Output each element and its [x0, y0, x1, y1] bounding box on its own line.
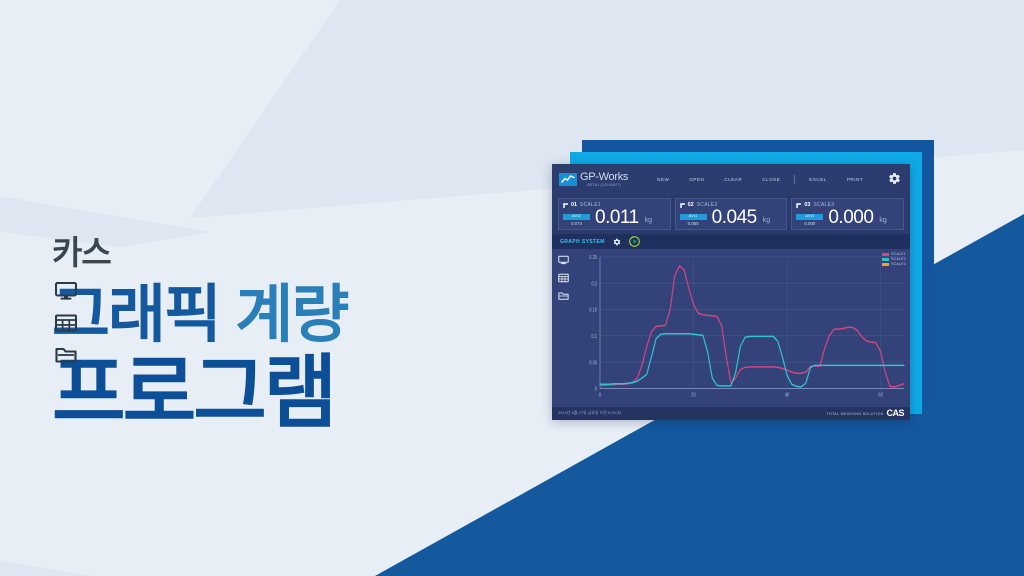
app-menu-bar: GP-Works BETA1 (20140627) NEW OPEN CLEAR… — [552, 164, 910, 195]
scale-03-checkbox[interactable] — [796, 203, 801, 208]
graph-settings-gear-icon[interactable] — [613, 238, 621, 246]
poster-text-block: 카스 그래픽 계량 프로그램 — [52, 236, 522, 434]
scale-03-average: AVG 0.000 — [796, 214, 823, 226]
svg-text:0.25: 0.25 — [589, 255, 597, 261]
status-branding: TOTAL WEIGHING SOLUTION CAS — [827, 409, 904, 418]
scale-01-avg-value: 0.074 — [563, 222, 590, 226]
scale-02-avg-value: 0.055 — [680, 222, 707, 226]
chart-area: 00.050.10.150.20.250204060 SCALE1 SCALE2… — [552, 249, 910, 407]
scale-01-checkbox[interactable] — [563, 203, 568, 208]
play-circle-icon[interactable] — [629, 236, 640, 247]
chart-side-toolbar — [552, 249, 574, 407]
menu-item-print[interactable]: PRINT — [837, 177, 873, 182]
cas-logo: CAS — [886, 409, 904, 418]
scale-01-average: AVG 0.074 — [563, 214, 590, 226]
poster-title-line-2: 프로그램 — [52, 351, 522, 434]
scale-card-01[interactable]: 01 SCALE1 AVG 0.074 0.011 kg — [558, 198, 671, 230]
scale-01-unit: kg — [645, 217, 652, 226]
scale-03-value: 0.000 — [828, 209, 873, 226]
scale-card-03[interactable]: 03 SCALE3 AVG 0.000 0.000 kg — [791, 198, 904, 230]
svg-text:0: 0 — [595, 386, 598, 392]
plot-canvas-wrapper: 00.050.10.150.20.250204060 SCALE1 SCALE2… — [574, 249, 910, 407]
scale-02-avg-label: AVG — [680, 214, 707, 220]
scale-01-number: 01 — [571, 202, 577, 208]
scale-03-avg-value: 0.000 — [796, 222, 823, 226]
menu-item-excel[interactable]: EXCEL — [799, 177, 837, 182]
feature-icon-column — [55, 282, 77, 364]
app-logo: GP-Works BETA1 (20140627) — [559, 171, 628, 188]
status-bar: 2014년 6월 27일 금요일 오전 9:36:33 TOTAL WEIGHI… — [552, 407, 910, 420]
scale-02-unit: kg — [763, 217, 770, 226]
menu-item-clear[interactable]: CLEAR — [714, 177, 752, 182]
poster-title-line-1: 그래픽 계량 — [52, 283, 522, 349]
folder-open-icon[interactable] — [558, 291, 569, 301]
menu-item-new[interactable]: NEW — [647, 177, 679, 182]
scale-03-unit: kg — [879, 217, 886, 226]
scale-card-02[interactable]: 02 SCALE2 AVG 0.055 0.045 kg — [675, 198, 788, 230]
status-timestamp: 2014년 6월 27일 금요일 오전 9:36:33 — [558, 411, 621, 416]
monitor-icon — [55, 282, 77, 300]
svg-text:0.15: 0.15 — [589, 307, 597, 313]
app-logo-version: BETA1 (20140627) — [580, 184, 628, 188]
scale-card-01-body: AVG 0.074 0.011 kg — [563, 209, 666, 226]
main-menu: NEW OPEN CLEAR CLOSE EXCEL PRINT — [647, 175, 873, 184]
svg-text:40: 40 — [785, 392, 790, 398]
poster-title-part-1: 그래픽 — [52, 280, 235, 350]
scale-03-avg-label: AVG — [796, 214, 823, 220]
folder-open-icon — [55, 346, 77, 364]
brand-name-kr: 카스 — [52, 236, 522, 269]
graph-system-label: GRAPH SYSTEM — [560, 239, 605, 245]
legend-item-scale2: SCALE2 — [882, 257, 906, 261]
menu-item-open[interactable]: OPEN — [679, 177, 714, 182]
scale-02-number: 02 — [688, 202, 694, 208]
scale-02-average: AVG 0.055 — [680, 214, 707, 226]
svg-text:0.1: 0.1 — [591, 334, 597, 340]
scale-02-value: 0.045 — [712, 209, 757, 226]
svg-text:60: 60 — [878, 392, 883, 398]
svg-text:20: 20 — [691, 392, 696, 398]
scale-02-checkbox[interactable] — [680, 203, 685, 208]
scale-01-value: 0.011 — [595, 209, 639, 226]
app-logo-name: GP-Works — [580, 171, 628, 183]
legend-item-scale3: SCALE3 — [882, 262, 906, 266]
gp-works-window: GP-Works BETA1 (20140627) NEW OPEN CLEAR… — [552, 164, 910, 420]
legend-label-scale3: SCALE3 — [891, 262, 906, 266]
chart-legend: SCALE1 SCALE2 SCALE3 — [882, 252, 906, 266]
legend-label-scale2: SCALE2 — [891, 257, 906, 261]
svg-text:0: 0 — [599, 392, 602, 398]
chart-logo-icon — [559, 173, 577, 186]
scale-cards-row: 01 SCALE1 AVG 0.074 0.011 kg 02 SCALE2 A… — [552, 195, 910, 234]
line-chart-plot: 00.050.10.150.20.250204060 — [574, 249, 910, 407]
poster-title-part-2: 계량 — [235, 280, 347, 350]
scale-card-02-body: AVG 0.055 0.045 kg — [680, 209, 783, 226]
table-grid-icon[interactable] — [558, 273, 569, 283]
legend-swatch-scale1 — [882, 253, 889, 256]
settings-gear-icon[interactable] — [888, 172, 901, 187]
svg-text:0.2: 0.2 — [591, 281, 597, 287]
scale-03-number: 03 — [804, 202, 810, 208]
monitor-icon[interactable] — [558, 255, 569, 265]
status-tagline: TOTAL WEIGHING SOLUTION — [827, 412, 884, 416]
scale-01-avg-label: AVG — [563, 214, 590, 220]
graph-system-toolbar: GRAPH SYSTEM — [552, 234, 910, 249]
legend-label-scale1: SCALE1 — [891, 252, 906, 256]
legend-swatch-scale2 — [882, 258, 889, 261]
table-grid-icon — [55, 314, 77, 332]
legend-item-scale1: SCALE1 — [882, 252, 906, 256]
svg-text:0.05: 0.05 — [589, 360, 597, 366]
legend-swatch-scale3 — [882, 263, 889, 266]
menu-item-close[interactable]: CLOSE — [752, 177, 790, 182]
scale-card-03-body: AVG 0.000 0.000 kg — [796, 209, 899, 226]
menu-divider — [794, 175, 795, 184]
